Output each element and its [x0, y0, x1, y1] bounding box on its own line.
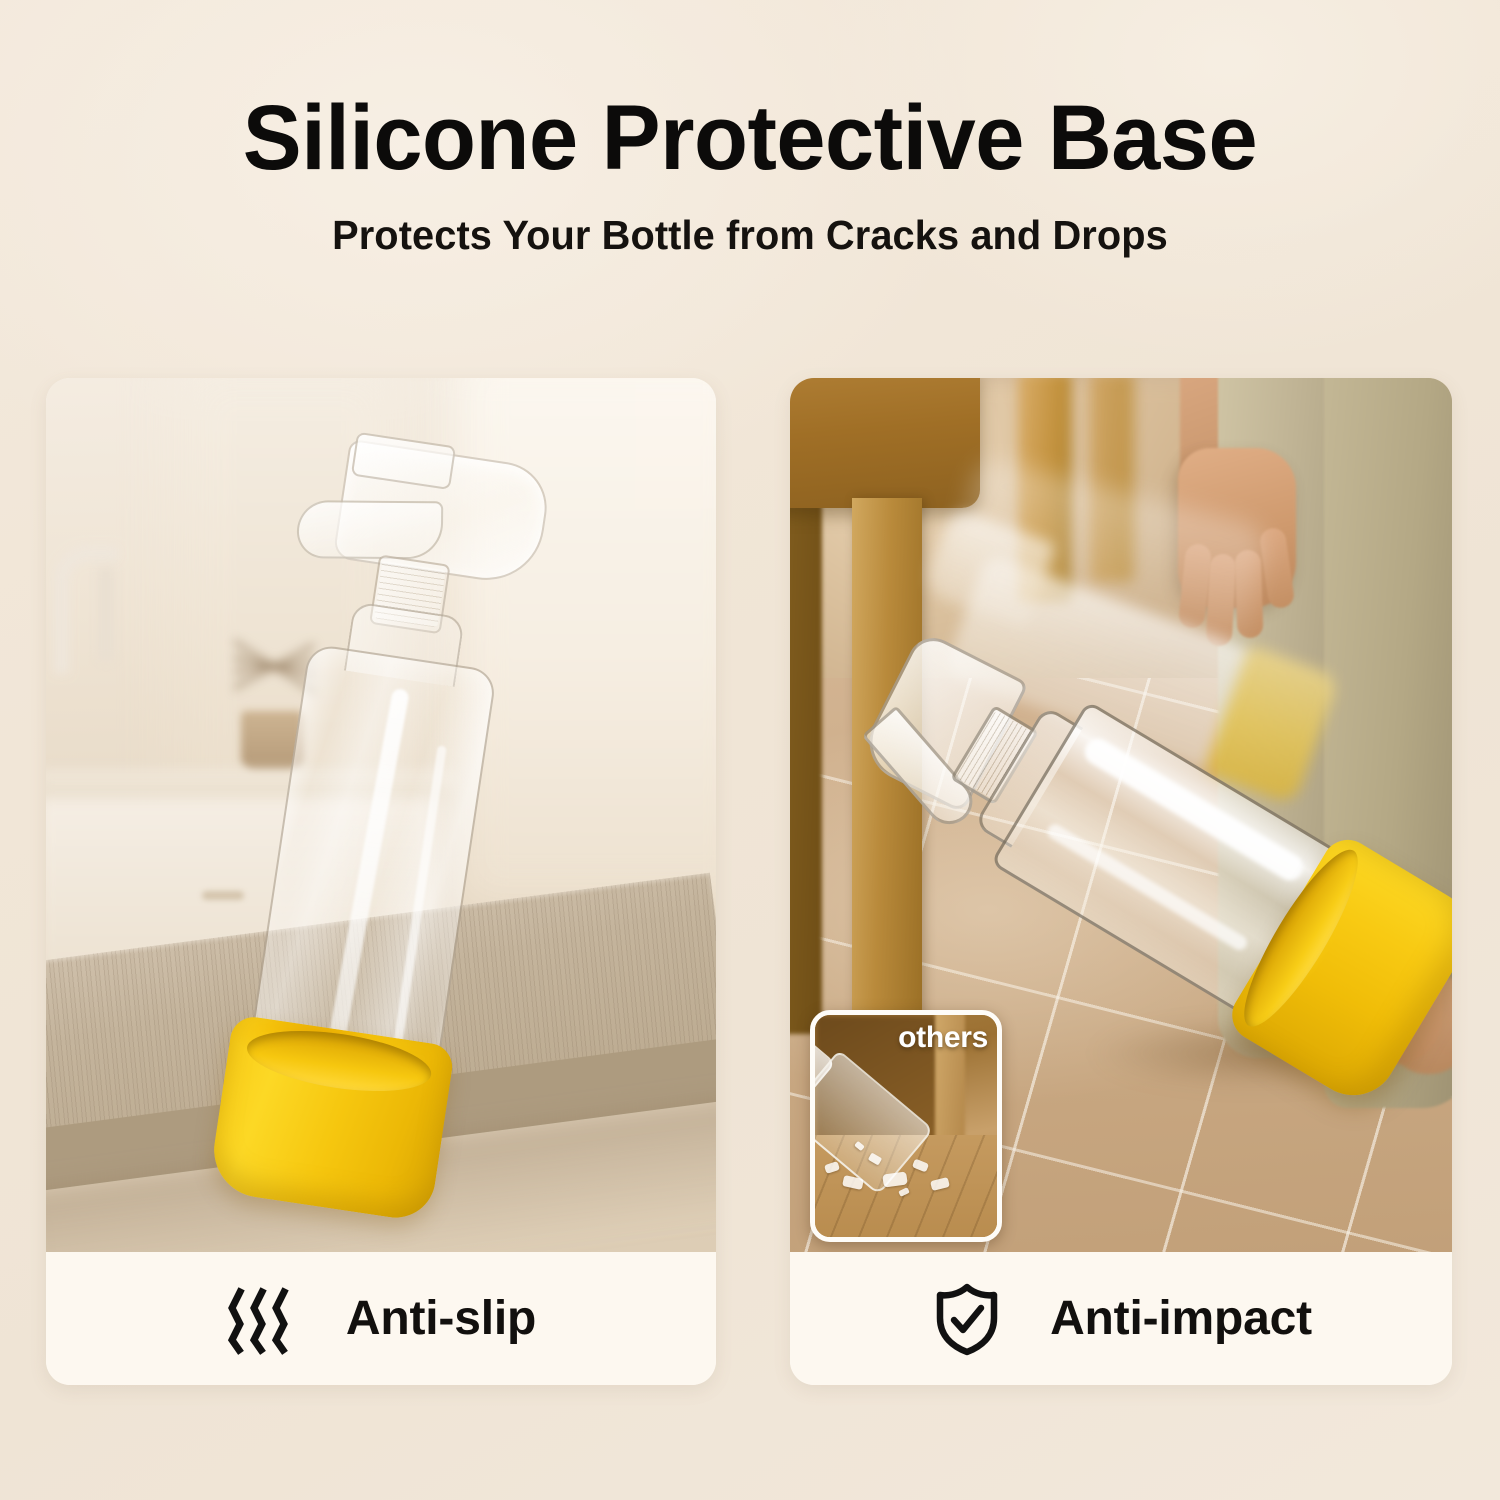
- caption-bar-anti-impact: Anti-impact: [790, 1252, 1452, 1385]
- zigzag-lines-icon: [226, 1282, 300, 1356]
- header: Silicone Protective Base Protects Your B…: [0, 0, 1500, 259]
- caption-label-anti-impact: Anti-impact: [1050, 1291, 1312, 1346]
- feature-card-anti-impact[interactable]: others Anti-impact: [790, 378, 1452, 1385]
- glass-shards: [821, 1133, 963, 1199]
- page-subtitle: Protects Your Bottle from Cracks and Dro…: [23, 212, 1478, 259]
- caption-bar-anti-slip: Anti-slip: [46, 1252, 716, 1385]
- anti-slip-photo: [46, 378, 716, 1252]
- sprayer-trigger: [297, 500, 444, 559]
- shield-check-icon: [930, 1282, 1004, 1356]
- others-comparison-inset[interactable]: others: [810, 1010, 1002, 1242]
- faucet-stem: [98, 566, 114, 662]
- cabinet-handle: [202, 891, 244, 900]
- others-scene: others: [815, 1015, 997, 1237]
- room-background: others: [790, 378, 1452, 1252]
- caption-label-anti-slip: Anti-slip: [346, 1291, 536, 1346]
- page-title: Silicone Protective Base: [30, 92, 1470, 184]
- feature-panels: Anti-slip: [0, 378, 1500, 1388]
- feature-card-anti-slip[interactable]: Anti-slip: [46, 378, 716, 1385]
- others-inset-label: others: [898, 1021, 988, 1055]
- table-leg-back: [790, 504, 822, 1034]
- anti-impact-photo: others: [790, 378, 1452, 1252]
- table-top: [790, 378, 980, 508]
